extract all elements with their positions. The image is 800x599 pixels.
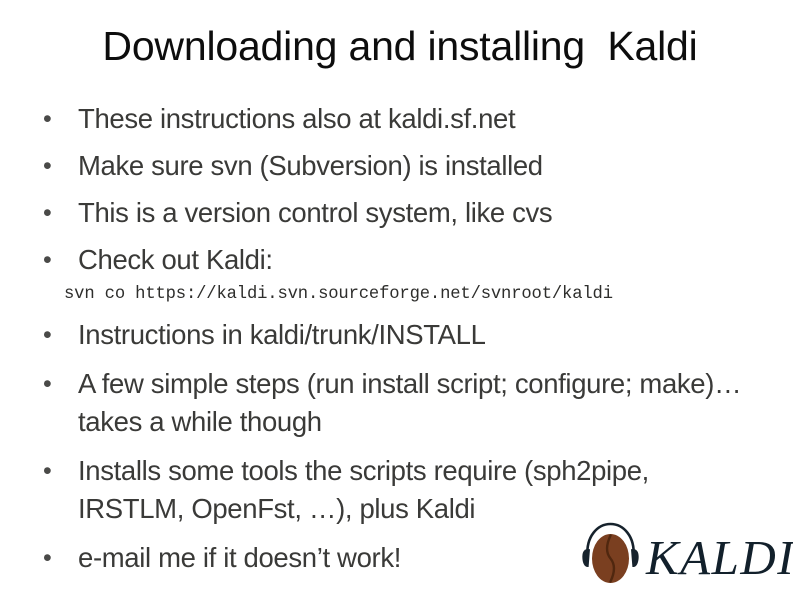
bullet-icon: • <box>43 365 59 403</box>
list-item-label: Check out Kaldi: <box>78 241 750 279</box>
bullet-icon: • <box>43 194 59 232</box>
headphone-earcup-left <box>582 549 590 567</box>
list-item: • Make sure svn (Subversion) is installe… <box>34 147 750 185</box>
bullet-icon: • <box>43 452 59 490</box>
slide-canvas: Downloading and installing Kaldi • These… <box>0 0 800 599</box>
kaldi-wordmark: KALDI <box>645 530 793 585</box>
list-item-label: Make sure svn (Subversion) is installed <box>78 147 750 185</box>
list-item-label: Instructions in kaldi/trunk/INSTALL <box>78 316 750 354</box>
kaldi-coffee-bean-headphones-icon: KALDI <box>578 516 793 592</box>
command-line: svn co https://kaldi.svn.sourceforge.net… <box>34 282 750 308</box>
bullet-icon: • <box>43 539 59 577</box>
list-item: • Instructions in kaldi/trunk/INSTALL <box>34 316 750 354</box>
list-item-label: This is a version control system, like c… <box>78 194 750 232</box>
bullet-list: • These instructions also at kaldi.sf.ne… <box>34 100 750 586</box>
bullet-icon: • <box>43 316 59 354</box>
list-item-label: A few simple steps (run install script; … <box>78 365 750 441</box>
bullet-icon: • <box>43 147 59 185</box>
page-title: Downloading and installing Kaldi <box>40 22 760 70</box>
list-item: • Check out Kaldi: <box>34 241 750 279</box>
headphone-earcup-right <box>631 549 639 567</box>
bullet-icon: • <box>43 100 59 138</box>
bullet-icon: • <box>43 241 59 279</box>
list-item: • A few simple steps (run install script… <box>34 365 750 441</box>
list-item: • This is a version control system, like… <box>34 194 750 232</box>
list-item-label: These instructions also at kaldi.sf.net <box>78 100 750 138</box>
kaldi-logo: KALDI <box>578 516 793 592</box>
list-item: • These instructions also at kaldi.sf.ne… <box>34 100 750 138</box>
